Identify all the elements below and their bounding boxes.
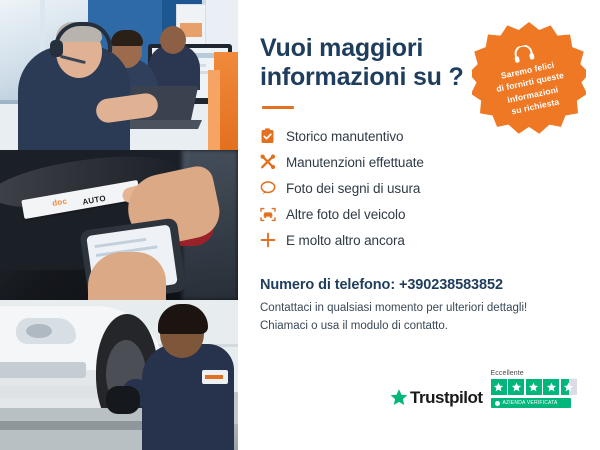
list-item-label: Altre foto del veicolo <box>286 207 405 222</box>
star-filled <box>508 379 524 395</box>
sticker-prefix-text: AUTO <box>82 194 107 207</box>
star-filled <box>491 379 507 395</box>
hand-lower-decor <box>88 252 166 300</box>
photo-column: AUTOdoc <box>0 0 238 450</box>
contact-description: Contattaci in qualsiasi momento per ulte… <box>260 300 578 336</box>
contact-block: Numero di telefono: +390238583852 Contat… <box>260 277 578 336</box>
mechanic-wheel-inspection-photo <box>0 300 238 450</box>
person-back-head-decor <box>160 26 186 54</box>
sticker-suffix-text: doc <box>51 196 67 207</box>
orange-object-decor-2 <box>208 70 220 150</box>
headlight-decor <box>16 318 76 344</box>
advertisement-banner: AUTOdoc <box>0 0 600 450</box>
list-item-label: Storico manutentivo <box>286 129 403 144</box>
verified-company-badge: AZIENDA VERIFICATA <box>491 398 571 408</box>
list-item: Foto dei segni di usura <box>260 175 578 201</box>
phone-number-label[interactable]: Numero di telefono: +390238583852 <box>260 277 578 293</box>
trustpilot-rating[interactable]: Trustpilot Eccellente AZIENDA VERIFICATA <box>389 370 578 408</box>
glove-decor <box>106 386 140 414</box>
plus-icon <box>260 232 286 248</box>
list-item: E molto altro ancora <box>260 227 578 253</box>
list-item-label: Foto dei segni di usura <box>286 181 420 196</box>
trustpilot-star-icon <box>389 388 409 408</box>
car-photo-frame-icon <box>260 207 286 222</box>
star-rating <box>491 379 579 395</box>
speech-bubble-icon <box>260 181 286 195</box>
contact-line-2: Chiamaci o usa il modulo di contatto. <box>260 318 578 336</box>
title-divider <box>262 106 294 109</box>
star-filled <box>543 379 559 395</box>
verified-check-icon <box>495 401 500 406</box>
star-filled <box>526 379 542 395</box>
clipboard-check-icon <box>260 128 286 144</box>
car-lift-edge-decor <box>0 421 160 430</box>
verified-label: AZIENDA VERIFICATA <box>503 400 558 406</box>
feature-list: Storico manutentivo Manutenzioni effettu… <box>260 123 578 253</box>
callout-badge: Saremo felici di fornirti queste informa… <box>472 22 586 136</box>
grille-decor <box>0 362 86 378</box>
headset-icon <box>511 43 536 63</box>
contact-line-1: Contattaci in qualsiasi momento per ulte… <box>260 300 578 318</box>
list-item: Manutenzioni effettuate <box>260 149 578 175</box>
trustpilot-name: Trustpilot <box>410 388 482 408</box>
bumper-decor <box>0 386 100 398</box>
list-item-label: Manutenzioni effettuate <box>286 155 424 170</box>
star-half <box>561 379 577 395</box>
uniform-logo-decor <box>202 370 228 384</box>
badge-content: Saremo felici di fornirti queste informa… <box>488 38 570 119</box>
trustpilot-logo: Trustpilot <box>389 388 482 408</box>
list-item-label: E molto altro ancora <box>286 233 405 248</box>
content-panel: Vuoi maggiori informazioni su ? Saremo f… <box>238 0 600 450</box>
person-middle-hair-decor <box>111 30 143 46</box>
call-center-agents-photo <box>0 0 238 150</box>
list-item: Altre foto del veicolo <box>260 201 578 227</box>
rating-word: Eccellente <box>491 370 524 377</box>
tools-cross-icon <box>260 154 286 170</box>
page-title: Vuoi maggiori informazioni su ? <box>260 34 475 92</box>
trustpilot-score: Eccellente AZIENDA VERIFICATA <box>491 370 579 408</box>
label-on-car-photo: AUTOdoc <box>0 150 238 300</box>
